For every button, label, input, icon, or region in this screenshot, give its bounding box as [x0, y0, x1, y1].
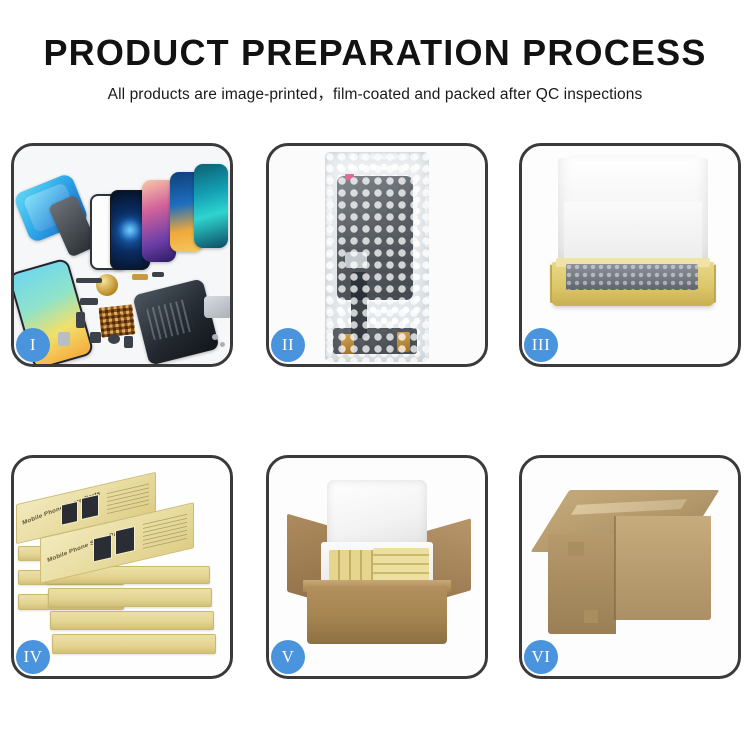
step-badge-3: III — [524, 328, 558, 362]
spare-part-strip — [76, 278, 102, 283]
step-6-photo — [522, 458, 738, 676]
step-3-photo — [522, 146, 738, 364]
step-badge-4: IV — [16, 640, 50, 674]
bubble-wrapped-content — [566, 264, 698, 290]
header: PRODUCT PREPARATION PROCESS All products… — [0, 0, 750, 130]
carton-tab-lower — [584, 610, 598, 623]
page-subtitle: All products are image-printed，film-coat… — [0, 72, 750, 104]
foam-box-lid — [327, 480, 427, 548]
pink-label-tab — [345, 174, 354, 180]
spare-part-camera — [80, 298, 98, 305]
spare-part-ic — [90, 332, 101, 343]
lcd-connector — [345, 252, 367, 268]
step-badge-2: II — [271, 328, 305, 362]
process-step-2: II — [266, 143, 488, 367]
process-step-4: Mobile Phone Spare Parts Mobile Phone Sp… — [11, 455, 233, 679]
step-1-photo — [14, 146, 230, 364]
step-badge-5: V — [271, 640, 305, 674]
stacked-box-front-2 — [48, 588, 212, 607]
box-window-front-1 — [93, 534, 112, 562]
stacked-box-front-4 — [52, 634, 216, 654]
spare-part-button — [152, 272, 164, 277]
page-title: PRODUCT PREPARATION PROCESS — [0, 0, 750, 72]
box-window-front-2 — [115, 526, 135, 556]
spare-part-screw-1 — [212, 334, 218, 340]
step-badge-1: I — [16, 328, 50, 362]
carton-front-wall — [307, 586, 447, 644]
box-spec-lines-rear — [107, 480, 149, 514]
step-badge-6: VI — [524, 640, 558, 674]
box-window-rear-1 — [61, 501, 78, 526]
lcd-gold-contact-left — [341, 334, 354, 354]
process-step-6: VI — [519, 455, 741, 679]
step-2-photo — [269, 146, 485, 364]
carton-right-face — [615, 516, 711, 620]
spare-part-chip-grid — [99, 304, 136, 337]
phone-screen-aqua — [194, 164, 228, 248]
spare-part-screw-2 — [220, 342, 225, 347]
box-label-text-front: Mobile Phone Spare Parts — [47, 528, 126, 564]
spare-part-vibrator — [108, 334, 120, 344]
spare-part-flex-gold — [132, 274, 148, 280]
carton-corner-seam — [614, 516, 616, 620]
spare-part-sim-tray — [58, 332, 70, 346]
spare-part-tool — [204, 296, 230, 318]
box-spec-lines-front — [143, 512, 187, 549]
phone-logic-board — [132, 278, 219, 364]
process-step-5: V — [266, 455, 488, 679]
process-step-grid: I II III — [11, 143, 739, 678]
stacked-box-front-3 — [50, 611, 214, 630]
spare-part-tray — [124, 336, 133, 348]
step-4-photo: Mobile Phone Spare Parts Mobile Phone Sp… — [14, 458, 230, 676]
lcd-gold-contact-right — [397, 332, 410, 352]
bubble-wrap-bag — [325, 152, 429, 362]
lcd-screen-assembly — [337, 176, 413, 300]
step-5-photo — [269, 458, 485, 676]
foam-insert — [564, 202, 702, 264]
spare-part-connector — [76, 312, 85, 328]
process-step-3: III — [519, 143, 741, 367]
carton-tab-upper — [568, 542, 584, 556]
process-step-1: I — [11, 143, 233, 367]
box-window-rear-2 — [81, 494, 99, 520]
